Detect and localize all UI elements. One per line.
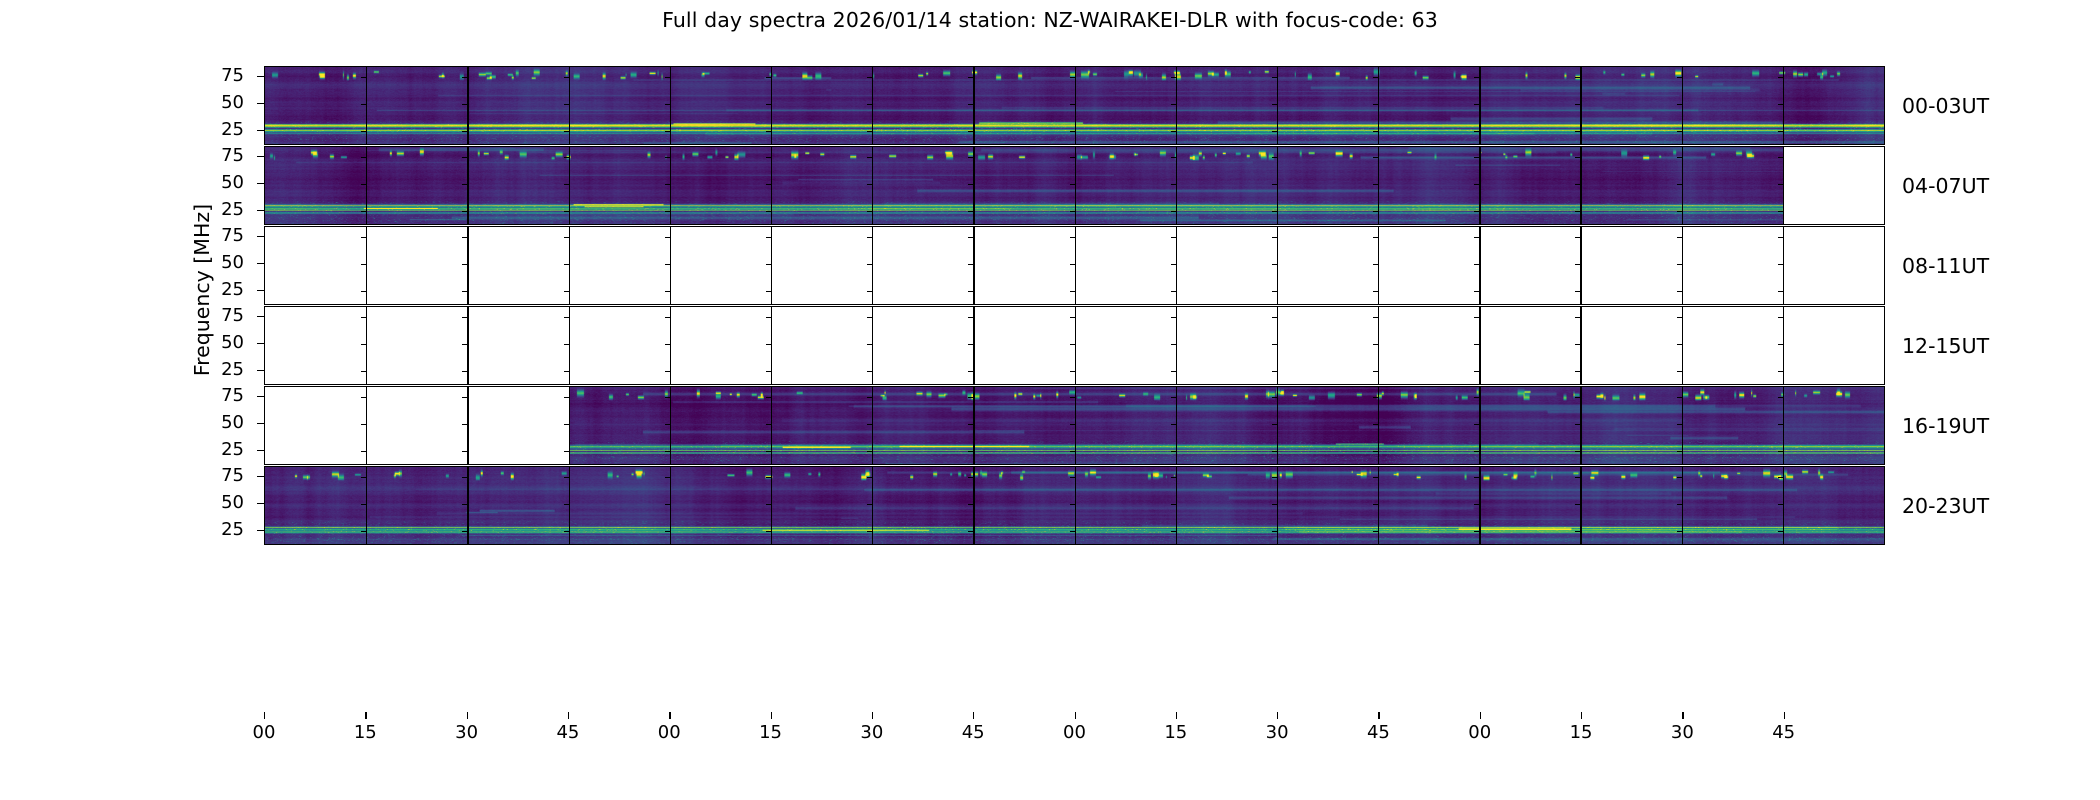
row-label-00-03ut: 00-03UT (1902, 96, 1989, 117)
panel-separator (1378, 227, 1379, 304)
inner-y-tick (462, 344, 467, 345)
row-label-08-11ut: 08-11UT (1902, 256, 1989, 277)
inner-y-tick (665, 237, 670, 238)
y-tick-label: 25 (198, 521, 244, 539)
inner-y-tick (1474, 344, 1479, 345)
inner-y-tick (1373, 291, 1378, 292)
inner-y-tick (462, 317, 467, 318)
panel-separator (366, 387, 367, 464)
x-tick-mark (1378, 712, 1379, 719)
inner-y-tick (968, 317, 973, 318)
inner-y-tick (1778, 291, 1783, 292)
inner-y-tick (665, 317, 670, 318)
panel-separator (467, 307, 468, 384)
panel-separator (771, 227, 772, 304)
y-tick-label: 75 (198, 467, 244, 485)
spectrogram-figure: Full day spectra 2026/01/14 station: NZ-… (0, 0, 2100, 800)
spectrogram-image (265, 67, 1884, 144)
inner-y-tick (361, 264, 366, 265)
y-tick-label: 25 (198, 361, 244, 379)
row-label-04-07ut: 04-07UT (1902, 176, 1989, 197)
panel-separator (1682, 227, 1683, 304)
inner-y-tick (1272, 344, 1277, 345)
panel-separator (1378, 307, 1379, 384)
inner-y-tick (1070, 264, 1075, 265)
x-tick-label: 45 (1348, 724, 1408, 742)
x-tick-label: 30 (1247, 724, 1307, 742)
inner-y-tick (1272, 237, 1277, 238)
spectrogram-row-12-15ut (264, 306, 1885, 385)
inner-y-tick (1778, 344, 1783, 345)
x-tick-label: 30 (842, 724, 902, 742)
inner-y-tick (766, 264, 771, 265)
y-tick-label: 25 (198, 281, 244, 299)
inner-y-tick (665, 371, 670, 372)
x-tick-mark (1075, 712, 1076, 719)
x-tick-label: 45 (943, 724, 1003, 742)
inner-y-tick (1373, 264, 1378, 265)
inner-y-tick (1575, 237, 1580, 238)
inner-y-tick (665, 264, 670, 265)
x-tick-mark (365, 712, 366, 719)
y-tick-mark (257, 450, 264, 451)
spectrogram-image (265, 467, 1884, 544)
inner-y-tick (1070, 291, 1075, 292)
y-tick-label: 50 (198, 334, 244, 352)
y-tick-mark (257, 476, 264, 477)
inner-y-tick (564, 264, 569, 265)
y-tick-label: 50 (198, 174, 244, 192)
inner-y-tick (968, 371, 973, 372)
inner-y-tick (1373, 317, 1378, 318)
x-tick-label: 15 (741, 724, 801, 742)
panel-separator (1479, 227, 1480, 304)
y-tick-mark (257, 76, 264, 77)
x-tick-label: 45 (1754, 724, 1814, 742)
inner-y-tick (968, 237, 973, 238)
inner-y-tick (1070, 344, 1075, 345)
inner-y-tick (462, 424, 467, 425)
inner-y-tick (867, 371, 872, 372)
inner-y-tick (1171, 264, 1176, 265)
panel-separator (973, 307, 974, 384)
inner-y-tick (564, 237, 569, 238)
spectrogram-row-00-03ut (264, 66, 1885, 145)
x-tick-label: 00 (1450, 724, 1510, 742)
inner-y-tick (968, 264, 973, 265)
inner-y-tick (1677, 291, 1682, 292)
inner-y-tick (1474, 291, 1479, 292)
x-tick-mark (1480, 712, 1481, 719)
inner-y-tick (1171, 371, 1176, 372)
panel-separator (1783, 147, 1784, 224)
inner-y-tick (462, 291, 467, 292)
panel-separator (569, 227, 570, 304)
x-tick-label: 30 (437, 724, 497, 742)
figure-title: Full day spectra 2026/01/14 station: NZ-… (0, 8, 2100, 32)
inner-y-tick (867, 264, 872, 265)
inner-y-tick (867, 291, 872, 292)
inner-y-tick (361, 397, 366, 398)
x-tick-mark (872, 712, 873, 719)
y-tick-mark (257, 130, 264, 131)
spectrogram-row-20-23ut (264, 466, 1885, 545)
inner-y-tick (361, 237, 366, 238)
x-tick-label: 00 (639, 724, 699, 742)
inner-y-tick (867, 344, 872, 345)
y-tick-mark (257, 370, 264, 371)
x-tick-mark (568, 712, 569, 719)
inner-y-tick (361, 451, 366, 452)
inner-y-tick (1677, 237, 1682, 238)
y-tick-mark (257, 103, 264, 104)
y-tick-label: 50 (198, 494, 244, 512)
inner-y-tick (1474, 237, 1479, 238)
inner-y-tick (564, 371, 569, 372)
inner-y-tick (1677, 317, 1682, 318)
inner-y-tick (1677, 264, 1682, 265)
y-tick-label: 75 (198, 147, 244, 165)
inner-y-tick (564, 317, 569, 318)
inner-y-tick (1070, 237, 1075, 238)
inner-y-tick (1373, 237, 1378, 238)
panel-separator (1682, 307, 1683, 384)
spectrogram-row-04-07ut (264, 146, 1885, 225)
inner-y-tick (462, 451, 467, 452)
y-tick-label: 75 (198, 227, 244, 245)
x-tick-mark (1784, 712, 1785, 719)
inner-y-tick (1575, 344, 1580, 345)
y-tick-label: 25 (198, 441, 244, 459)
y-tick-label: 50 (198, 254, 244, 272)
panel-separator (467, 227, 468, 304)
spectrogram-row-16-19ut (264, 386, 1885, 465)
inner-y-tick (1575, 291, 1580, 292)
inner-y-tick (361, 291, 366, 292)
inner-y-tick (968, 344, 973, 345)
inner-y-tick (361, 424, 366, 425)
panel-separator (1176, 227, 1177, 304)
inner-y-tick (1575, 264, 1580, 265)
panel-separator (771, 307, 772, 384)
inner-y-tick (1575, 317, 1580, 318)
y-tick-mark (257, 183, 264, 184)
spectrogram-image (569, 387, 1884, 464)
panel-separator (366, 307, 367, 384)
inner-y-tick (1778, 317, 1783, 318)
x-tick-mark (669, 712, 670, 719)
y-tick-mark (257, 423, 264, 424)
x-tick-mark (1682, 712, 1683, 719)
inner-y-tick (766, 237, 771, 238)
inner-y-tick (1778, 264, 1783, 265)
panel-separator (1075, 307, 1076, 384)
inner-y-tick (766, 317, 771, 318)
panel-separator (1075, 227, 1076, 304)
inner-y-tick (361, 344, 366, 345)
y-tick-label: 50 (198, 414, 244, 432)
inner-y-tick (564, 344, 569, 345)
spectrogram-image (265, 147, 1783, 224)
panel-separator (872, 307, 873, 384)
panel-separator (1580, 307, 1581, 384)
y-tick-mark (257, 210, 264, 211)
inner-y-tick (1070, 317, 1075, 318)
inner-y-tick (1778, 237, 1783, 238)
inner-y-tick (1272, 317, 1277, 318)
y-tick-mark (257, 236, 264, 237)
x-tick-label: 00 (1045, 724, 1105, 742)
x-tick-mark (1176, 712, 1177, 719)
y-tick-mark (257, 316, 264, 317)
panel-separator (872, 227, 873, 304)
inner-y-tick (1171, 291, 1176, 292)
inner-y-tick (1474, 317, 1479, 318)
inner-y-tick (1677, 371, 1682, 372)
panel-separator (670, 227, 671, 304)
panel-separator (973, 227, 974, 304)
row-label-12-15ut: 12-15UT (1902, 336, 1989, 357)
inner-y-tick (665, 291, 670, 292)
inner-y-tick (1373, 371, 1378, 372)
x-tick-label: 30 (1652, 724, 1712, 742)
panel-separator (1277, 227, 1278, 304)
x-tick-label: 15 (335, 724, 395, 742)
inner-y-tick (766, 291, 771, 292)
panel-separator (1277, 307, 1278, 384)
x-tick-label: 00 (234, 724, 294, 742)
inner-y-tick (462, 397, 467, 398)
inner-y-tick (1272, 371, 1277, 372)
x-tick-label: 15 (1146, 724, 1206, 742)
row-label-16-19ut: 16-19UT (1902, 416, 1989, 437)
inner-y-tick (462, 264, 467, 265)
y-tick-label: 75 (198, 387, 244, 405)
y-tick-label: 25 (198, 121, 244, 139)
y-tick-label: 25 (198, 201, 244, 219)
panel-separator (1783, 307, 1784, 384)
y-tick-label: 75 (198, 307, 244, 325)
y-tick-mark (257, 290, 264, 291)
inner-y-tick (1778, 371, 1783, 372)
x-tick-label: 15 (1551, 724, 1611, 742)
y-tick-mark (257, 503, 264, 504)
x-tick-mark (467, 712, 468, 719)
inner-y-tick (968, 291, 973, 292)
panel-separator (1783, 227, 1784, 304)
panel-separator (467, 387, 468, 464)
inner-y-tick (1272, 264, 1277, 265)
inner-y-tick (564, 291, 569, 292)
panel-separator (1580, 227, 1581, 304)
inner-y-tick (462, 237, 467, 238)
inner-y-tick (361, 371, 366, 372)
inner-y-tick (1373, 344, 1378, 345)
panel-separator (1176, 307, 1177, 384)
inner-y-tick (1171, 317, 1176, 318)
inner-y-tick (1171, 237, 1176, 238)
inner-y-tick (1474, 264, 1479, 265)
inner-y-tick (1575, 371, 1580, 372)
inner-y-tick (1070, 371, 1075, 372)
spectrogram-row-08-11ut (264, 226, 1885, 305)
inner-y-tick (1171, 344, 1176, 345)
panel-separator (670, 307, 671, 384)
y-tick-mark (257, 396, 264, 397)
inner-y-tick (1474, 371, 1479, 372)
y-tick-mark (257, 343, 264, 344)
y-tick-mark (257, 156, 264, 157)
inner-y-tick (766, 371, 771, 372)
y-tick-label: 50 (198, 94, 244, 112)
panel-separator (569, 307, 570, 384)
inner-y-tick (665, 344, 670, 345)
inner-y-tick (867, 237, 872, 238)
row-label-20-23ut: 20-23UT (1902, 496, 1989, 517)
x-tick-mark (1277, 712, 1278, 719)
inner-y-tick (1677, 344, 1682, 345)
panel-separator (366, 227, 367, 304)
x-tick-mark (1581, 712, 1582, 719)
x-tick-mark (771, 712, 772, 719)
x-tick-mark (264, 712, 265, 719)
y-tick-mark (257, 530, 264, 531)
inner-y-tick (766, 344, 771, 345)
inner-y-tick (1272, 291, 1277, 292)
y-tick-label: 75 (198, 67, 244, 85)
inner-y-tick (867, 317, 872, 318)
inner-y-tick (462, 371, 467, 372)
y-tick-mark (257, 263, 264, 264)
panel-separator (1479, 307, 1480, 384)
x-tick-label: 45 (538, 724, 598, 742)
inner-y-tick (361, 317, 366, 318)
x-tick-mark (973, 712, 974, 719)
